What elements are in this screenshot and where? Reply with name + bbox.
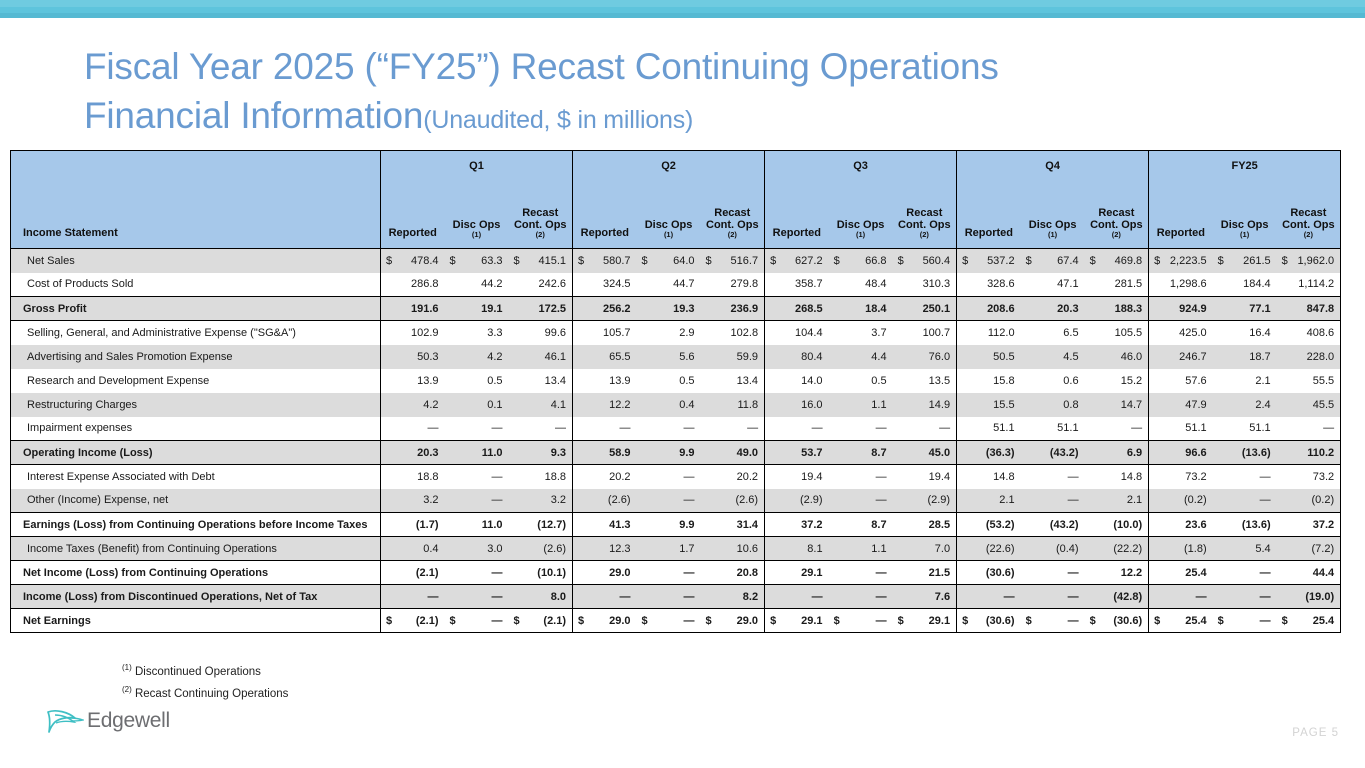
table-cell: 358.7 <box>765 273 829 297</box>
table-cell: $(30.6) <box>957 609 1021 633</box>
row-label: Interest Expense Associated with Debt <box>11 465 381 489</box>
cell-value: 102.8 <box>731 327 759 339</box>
cell-value: — <box>684 494 695 506</box>
column-header-footnote-marker: (1) <box>637 231 701 239</box>
table-cell: 7.0 <box>893 537 957 561</box>
table-cell: 924.9 <box>1149 297 1213 321</box>
table-cell: $(30.6) <box>1085 609 1149 633</box>
table-cell: $66.8 <box>829 249 893 273</box>
cell-value: — <box>876 591 887 603</box>
cell-value: 51.1 <box>1057 422 1078 434</box>
table-cell: 208.6 <box>957 297 1021 321</box>
cell-value: 3.0 <box>487 543 502 555</box>
table-cell: 16.4 <box>1213 321 1277 345</box>
cell-value: 191.6 <box>411 303 439 315</box>
page-title-line2: Financial Information(Unaudited, $ in mi… <box>84 91 1284 145</box>
cell-value: 12.2 <box>1121 567 1142 579</box>
column-header-fy25-disc-ops: Disc Ops(1) <box>1213 181 1277 249</box>
column-header-q3-recast-cont-ops: Recast Cont. Ops(2) <box>893 181 957 249</box>
cell-value: 13.5 <box>929 375 950 387</box>
cell-value: 46.1 <box>545 351 566 363</box>
currency-symbol: $ <box>962 255 968 267</box>
table-cell: 847.8 <box>1277 297 1341 321</box>
cell-value: (19.0) <box>1305 591 1334 603</box>
cell-value: — <box>876 422 887 434</box>
table-cell: 19.4 <box>893 465 957 489</box>
table-cell: 46.0 <box>1085 345 1149 369</box>
page-number: PAGE 5 <box>1292 727 1339 739</box>
cell-value: — <box>1260 567 1271 579</box>
table-cell: 1.1 <box>829 393 893 417</box>
table-cell: 4.4 <box>829 345 893 369</box>
cell-value: 73.2 <box>1185 471 1206 483</box>
cell-value: (36.3) <box>986 447 1015 459</box>
cell-value: 25.4 <box>1185 567 1206 579</box>
cell-value: 47.9 <box>1185 399 1206 411</box>
table-cell: 100.7 <box>893 321 957 345</box>
cell-value: 57.6 <box>1185 375 1206 387</box>
cell-value: — <box>876 494 887 506</box>
table-cell: 13.5 <box>893 369 957 393</box>
table-cell: — <box>573 585 637 609</box>
cell-value: 4.1 <box>551 399 566 411</box>
cell-value: 0.8 <box>1063 399 1078 411</box>
cell-value: 47.1 <box>1057 278 1078 290</box>
cell-value: 4.4 <box>871 351 886 363</box>
cell-value: 256.2 <box>603 303 631 315</box>
cell-value: 242.6 <box>539 278 567 290</box>
column-header-fy25-reported: Reported <box>1149 181 1213 249</box>
currency-symbol: $ <box>770 255 776 267</box>
cell-value: — <box>684 591 695 603</box>
cell-value: (0.2) <box>1184 494 1207 506</box>
row-label: Net Income (Loss) from Continuing Operat… <box>11 561 381 585</box>
footnote-1-text: Discontinued Operations <box>135 666 261 678</box>
cell-value: (2.6) <box>543 543 566 555</box>
cell-value: 77.1 <box>1249 303 1270 315</box>
table-cell: $29.0 <box>701 609 765 633</box>
table-cell: 5.4 <box>1213 537 1277 561</box>
table-cell: 19.3 <box>637 297 701 321</box>
table-row: Restructuring Charges4.20.14.112.20.411.… <box>11 393 1341 417</box>
table-cell: 37.2 <box>765 513 829 537</box>
cell-value: (53.2) <box>986 519 1015 531</box>
table-cell: 20.2 <box>701 465 765 489</box>
table-cell: 47.1 <box>1021 273 1085 297</box>
table-cell: (43.2) <box>1021 513 1085 537</box>
table-cell: 3.2 <box>509 489 573 513</box>
table-cell: 14.8 <box>1085 465 1149 489</box>
table-cell: 236.9 <box>701 297 765 321</box>
table-cell: 1,114.2 <box>1277 273 1341 297</box>
cell-value: — <box>620 422 631 434</box>
cell-value: 2,223.5 <box>1170 255 1207 267</box>
cell-value: — <box>1004 591 1015 603</box>
currency-symbol: $ <box>1090 615 1096 627</box>
cell-value: 0.5 <box>679 375 694 387</box>
table-cell: 102.9 <box>381 321 445 345</box>
table-cell: 8.1 <box>765 537 829 561</box>
table-cell: $25.4 <box>1149 609 1213 633</box>
cell-value: 9.3 <box>551 447 566 459</box>
table-cell: (12.7) <box>509 513 573 537</box>
currency-symbol: $ <box>578 615 584 627</box>
cell-value: 268.5 <box>795 303 823 315</box>
table-cell: — <box>637 489 701 513</box>
page-title-line2-text: Financial Information <box>84 95 423 136</box>
table-cell: 12.2 <box>1085 561 1149 585</box>
table-row: Advertising and Sales Promotion Expense5… <box>11 345 1341 369</box>
table-cell: 425.0 <box>1149 321 1213 345</box>
table-cell: — <box>445 417 509 441</box>
table-cell: 172.5 <box>509 297 573 321</box>
table-cell: 11.0 <box>445 513 509 537</box>
currency-symbol: $ <box>386 615 392 627</box>
row-label: Other (Income) Expense, net <box>11 489 381 513</box>
table-cell: (10.1) <box>509 561 573 585</box>
table-cell: 51.1 <box>957 417 1021 441</box>
cell-value: 73.2 <box>1313 471 1334 483</box>
table-header: Income Statement Q1 Q2 Q3 Q4 FY25 Report… <box>11 151 1341 249</box>
table-cell: 20.3 <box>381 441 445 465</box>
row-label: Operating Income (Loss) <box>11 441 381 465</box>
cell-value: — <box>747 422 758 434</box>
cell-value: 478.4 <box>411 255 439 267</box>
cell-value: 29.0 <box>737 615 758 627</box>
cell-value: — <box>939 422 950 434</box>
table-cell: 228.0 <box>1277 345 1341 369</box>
cell-value: 37.2 <box>1313 519 1334 531</box>
cell-value: 1,114.2 <box>1298 278 1334 290</box>
table-cell: 0.8 <box>1021 393 1085 417</box>
cell-value: 1.1 <box>871 543 886 555</box>
table-cell: 5.6 <box>637 345 701 369</box>
cell-value: — <box>812 422 823 434</box>
currency-symbol: $ <box>706 255 712 267</box>
currency-symbol: $ <box>514 615 520 627</box>
cell-value: (30.6) <box>1113 615 1142 627</box>
cell-value: 580.7 <box>603 255 631 267</box>
table-cell: 45.0 <box>893 441 957 465</box>
cell-value: 5.4 <box>1255 543 1270 555</box>
cell-value: 15.8 <box>993 375 1014 387</box>
table-row: Income Taxes (Benefit) from Continuing O… <box>11 537 1341 561</box>
cell-value: 924.9 <box>1179 303 1207 315</box>
table-cell: (43.2) <box>1021 441 1085 465</box>
cell-value: — <box>1068 567 1079 579</box>
table-cell: (2.9) <box>893 489 957 513</box>
cell-value: (43.2) <box>1050 519 1079 531</box>
row-label: Gross Profit <box>11 297 381 321</box>
cell-value: 516.7 <box>731 255 759 267</box>
cell-value: — <box>1196 591 1207 603</box>
cell-value: 14.8 <box>993 471 1014 483</box>
table-cell: 0.4 <box>381 537 445 561</box>
table-row: Selling, General, and Administrative Exp… <box>11 321 1341 345</box>
cell-value: 11.0 <box>482 519 503 531</box>
cell-value: 55.5 <box>1313 375 1334 387</box>
table-cell: 2.1 <box>957 489 1021 513</box>
cell-value: 14.7 <box>1121 399 1142 411</box>
table-cell: 73.2 <box>1149 465 1213 489</box>
table-cell: — <box>445 465 509 489</box>
column-header-q4-disc-ops: Disc Ops(1) <box>1021 181 1085 249</box>
cell-value: — <box>1068 494 1079 506</box>
table-cell: — <box>701 417 765 441</box>
column-header-income-statement: Income Statement <box>11 151 381 249</box>
table-cell: 96.6 <box>1149 441 1213 465</box>
cell-value: 48.4 <box>865 278 886 290</box>
table-cell: 76.0 <box>893 345 957 369</box>
cell-value: 310.3 <box>923 278 951 290</box>
table-cell: — <box>381 417 445 441</box>
table-cell: 20.2 <box>573 465 637 489</box>
cell-value: (42.8) <box>1113 591 1142 603</box>
table-cell: 21.5 <box>893 561 957 585</box>
cell-value: 0.6 <box>1063 375 1078 387</box>
row-label: Selling, General, and Administrative Exp… <box>11 321 381 345</box>
column-header-q2-recast-cont-ops: Recast Cont. Ops(2) <box>701 181 765 249</box>
row-label: Income (Loss) from Discontinued Operatio… <box>11 585 381 609</box>
table-row: Gross Profit191.619.1172.5256.219.3236.9… <box>11 297 1341 321</box>
cell-value: 46.0 <box>1121 351 1142 363</box>
edgewell-wordmark: Edgewell <box>87 709 170 733</box>
table-cell: 242.6 <box>509 273 573 297</box>
cell-value: 11.8 <box>737 399 758 411</box>
currency-symbol: $ <box>706 615 712 627</box>
table-cell: 3.3 <box>445 321 509 345</box>
cell-value: (43.2) <box>1050 447 1079 459</box>
cell-value: 76.0 <box>929 351 950 363</box>
cell-value: (10.0) <box>1113 519 1142 531</box>
table-cell: (7.2) <box>1277 537 1341 561</box>
cell-value: 105.7 <box>603 327 631 339</box>
table-cell: — <box>1149 585 1213 609</box>
group-header-q2: Q2 <box>573 151 765 181</box>
cell-value: 96.6 <box>1185 447 1206 459</box>
table-cell: $— <box>1021 609 1085 633</box>
cell-value: 3.3 <box>487 327 502 339</box>
cell-value: 23.6 <box>1185 519 1206 531</box>
column-header-fy25-recast-cont-ops: Recast Cont. Ops(2) <box>1277 181 1341 249</box>
table-cell: 25.4 <box>1149 561 1213 585</box>
cell-value: 18.7 <box>1249 351 1270 363</box>
table-cell: — <box>1213 465 1277 489</box>
table-cell: 46.1 <box>509 345 573 369</box>
table-cell: 77.1 <box>1213 297 1277 321</box>
table-cell: 47.9 <box>1149 393 1213 417</box>
cell-value: 50.5 <box>993 351 1014 363</box>
currency-symbol: $ <box>1154 615 1160 627</box>
currency-symbol: $ <box>1154 255 1160 267</box>
cell-value: 45.5 <box>1313 399 1334 411</box>
cell-value: — <box>555 422 566 434</box>
cell-value: 14.0 <box>801 375 822 387</box>
cell-value: 18.8 <box>417 471 438 483</box>
table-cell: — <box>1213 585 1277 609</box>
cell-value: 80.4 <box>801 351 822 363</box>
table-cell: 14.7 <box>1085 393 1149 417</box>
cell-value: 44.4 <box>1313 567 1334 579</box>
cell-value: 1,962.0 <box>1297 255 1334 267</box>
table-cell: 80.4 <box>765 345 829 369</box>
table-cell: 48.4 <box>829 273 893 297</box>
cell-value: 2.1 <box>1255 375 1270 387</box>
currency-symbol: $ <box>1090 255 1096 267</box>
table-cell: (22.2) <box>1085 537 1149 561</box>
cell-value: (2.9) <box>800 494 823 506</box>
footnote-1-marker: (1) <box>122 663 132 672</box>
cell-value: — <box>620 591 631 603</box>
table-cell: 286.8 <box>381 273 445 297</box>
table-cell: 19.4 <box>765 465 829 489</box>
table-cell: 45.5 <box>1277 393 1341 417</box>
table-cell: $478.4 <box>381 249 445 273</box>
cell-value: — <box>684 471 695 483</box>
table-cell: — <box>1277 417 1341 441</box>
cell-value: 18.8 <box>545 471 566 483</box>
table-cell: (2.9) <box>765 489 829 513</box>
table-cell: (19.0) <box>1277 585 1341 609</box>
table-cell: 50.5 <box>957 345 1021 369</box>
cell-value: 25.4 <box>1313 615 1334 627</box>
cell-value: 246.7 <box>1179 351 1207 363</box>
table-cell: (1.8) <box>1149 537 1213 561</box>
currency-symbol: $ <box>1026 615 1032 627</box>
table-cell: — <box>509 417 573 441</box>
currency-symbol: $ <box>514 255 520 267</box>
table-cell: 6.9 <box>1085 441 1149 465</box>
currency-symbol: $ <box>834 615 840 627</box>
table-cell: (1.7) <box>381 513 445 537</box>
cell-value: 279.8 <box>731 278 759 290</box>
currency-symbol: $ <box>642 615 648 627</box>
column-header-footnote-marker: (1) <box>829 231 893 239</box>
cell-value: 50.3 <box>417 351 438 363</box>
table-cell: $63.3 <box>445 249 509 273</box>
table-cell: $415.1 <box>509 249 573 273</box>
cell-value: 7.6 <box>935 591 950 603</box>
row-label: Net Sales <box>11 249 381 273</box>
cell-value: 31.4 <box>737 519 758 531</box>
cell-value: 0.4 <box>423 543 438 555</box>
column-header-q2-disc-ops: Disc Ops(1) <box>637 181 701 249</box>
banner-shadow <box>0 13 1365 18</box>
cell-value: 15.5 <box>993 399 1014 411</box>
table-cell: $29.1 <box>893 609 957 633</box>
cell-value: 13.9 <box>417 375 438 387</box>
table-cell: $— <box>445 609 509 633</box>
table-cell: 105.7 <box>573 321 637 345</box>
cell-value: — <box>492 494 503 506</box>
column-header-footnote-marker: (1) <box>1021 231 1085 239</box>
table-cell: 268.5 <box>765 297 829 321</box>
table-cell: $2,223.5 <box>1149 249 1213 273</box>
table-cell: — <box>1085 417 1149 441</box>
column-header-footnote-marker: (2) <box>1277 231 1341 239</box>
table-cell: $580.7 <box>573 249 637 273</box>
table-cell: 4.2 <box>445 345 509 369</box>
cell-value: 20.3 <box>417 447 438 459</box>
cell-value: 67.4 <box>1057 255 1078 267</box>
table-cell: 1.1 <box>829 537 893 561</box>
income-statement-table: Income Statement Q1 Q2 Q3 Q4 FY25 Report… <box>10 150 1341 633</box>
column-header-q3-disc-ops: Disc Ops(1) <box>829 181 893 249</box>
table-cell: 20.3 <box>1021 297 1085 321</box>
table-cell: — <box>573 417 637 441</box>
group-header-q4: Q4 <box>957 151 1149 181</box>
table-cell: (22.6) <box>957 537 1021 561</box>
cell-value: 20.8 <box>737 567 758 579</box>
cell-value: (0.4) <box>1056 543 1079 555</box>
table-cell: 99.6 <box>509 321 573 345</box>
table-cell: 55.5 <box>1277 369 1341 393</box>
table-cell: — <box>765 585 829 609</box>
cell-value: — <box>1260 615 1271 627</box>
table-cell: — <box>893 417 957 441</box>
table-cell: $(2.1) <box>509 609 573 633</box>
table-cell: — <box>765 417 829 441</box>
table-cell: (13.6) <box>1213 441 1277 465</box>
table-cell: 14.8 <box>957 465 1021 489</box>
cell-value: — <box>876 471 887 483</box>
cell-value: 208.6 <box>987 303 1015 315</box>
cell-value: — <box>1260 591 1271 603</box>
table-cell: 7.6 <box>893 585 957 609</box>
table-cell: 15.5 <box>957 393 1021 417</box>
table-cell: 29.1 <box>765 561 829 585</box>
cell-value: 20.3 <box>1057 303 1078 315</box>
cell-value: (12.7) <box>537 519 566 531</box>
cell-value: 172.5 <box>539 303 567 315</box>
slide-title-block: Fiscal Year 2025 (“FY25”) Recast Continu… <box>84 42 1284 145</box>
table-cell: 13.9 <box>573 369 637 393</box>
cell-value: — <box>1068 471 1079 483</box>
cell-value: 21.5 <box>929 567 950 579</box>
table-cell: (2.6) <box>701 489 765 513</box>
table-cell: (0.4) <box>1021 537 1085 561</box>
cell-value: (22.6) <box>986 543 1015 555</box>
cell-value: — <box>1260 471 1271 483</box>
table-cell: (2.6) <box>509 537 573 561</box>
cell-value: 110.2 <box>1307 447 1334 459</box>
cell-value: 3.2 <box>551 494 566 506</box>
cell-value: 469.8 <box>1115 255 1143 267</box>
cell-value: 41.3 <box>609 519 630 531</box>
cell-value: 537.2 <box>987 255 1015 267</box>
table-cell: — <box>829 465 893 489</box>
currency-symbol: $ <box>450 615 456 627</box>
cell-value: (13.6) <box>1242 447 1271 459</box>
currency-symbol: $ <box>770 615 776 627</box>
cell-value: 105.5 <box>1115 327 1143 339</box>
cell-value: 0.1 <box>487 399 502 411</box>
cell-value: — <box>492 471 503 483</box>
cell-value: 2.4 <box>1255 399 1270 411</box>
table-row: Operating Income (Loss)20.311.09.358.99.… <box>11 441 1341 465</box>
table-cell: 1,298.6 <box>1149 273 1213 297</box>
cell-value: 37.2 <box>801 519 822 531</box>
cell-value: 560.4 <box>923 255 951 267</box>
column-header-footnote-marker: (2) <box>509 231 573 239</box>
currency-symbol: $ <box>1282 615 1288 627</box>
table-cell: $560.4 <box>893 249 957 273</box>
column-header-q2-reported: Reported <box>573 181 637 249</box>
table-cell: 102.8 <box>701 321 765 345</box>
table-cell: 3.0 <box>445 537 509 561</box>
page-subtitle: (Unaudited, $ in millions) <box>423 106 693 134</box>
cell-value: 100.7 <box>923 327 951 339</box>
